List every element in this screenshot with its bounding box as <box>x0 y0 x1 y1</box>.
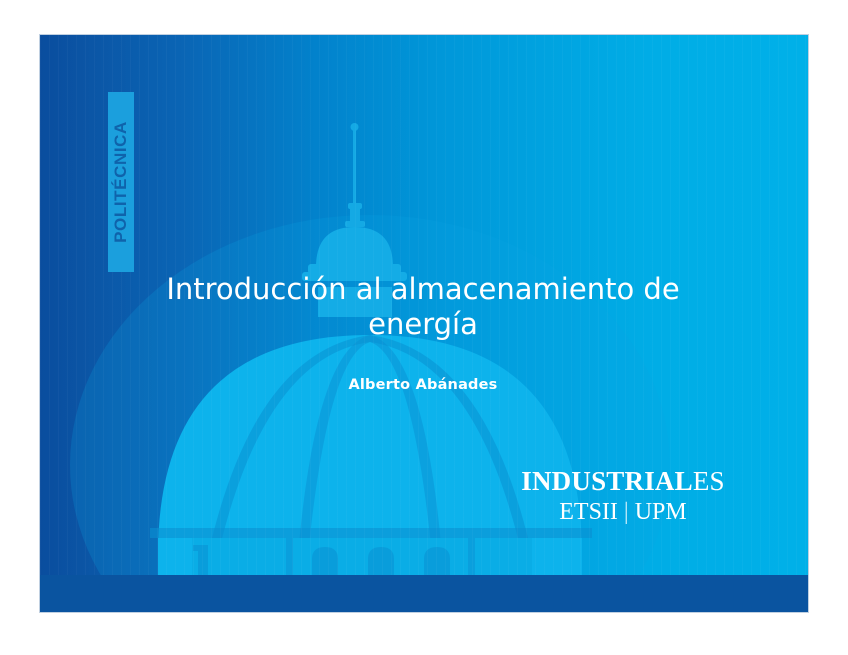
drum-inner-panel <box>192 538 532 575</box>
drum-arch-window-3 <box>424 547 450 575</box>
politecnica-band: POLITÉCNICA <box>108 92 134 272</box>
drum-pier-left <box>286 538 293 575</box>
presentation-slide: POLITÉCNICA Introducción al almacenamien… <box>40 35 808 612</box>
drum-pier-right <box>468 538 475 575</box>
logo-upm-text: UPM <box>635 499 687 525</box>
logo-secondary-line: ETSII|UPM <box>488 500 758 524</box>
logo-industrial-text: INDUSTRIAL <box>521 466 693 496</box>
bottom-accent-bar <box>40 575 808 612</box>
logo-primary-line: INDUSTRIALES <box>488 468 758 495</box>
spire-rod <box>353 130 356 205</box>
industriales-logo: INDUSTRIALES ETSII|UPM <box>488 468 758 524</box>
page-title: Introducción al almacenamiento de energí… <box>140 272 706 343</box>
dome-cornice <box>150 528 592 538</box>
spire-neck <box>350 209 360 223</box>
spire-collar-upper <box>348 203 362 209</box>
title-block: Introducción al almacenamiento de energí… <box>140 272 706 393</box>
spire-collar-lower <box>345 221 365 227</box>
politecnica-band-label: POLITÉCNICA <box>111 121 131 243</box>
logo-separator: | <box>618 500 635 524</box>
logo-etsii-text: ETSII <box>559 499 618 525</box>
logo-es-text: ES <box>693 466 725 496</box>
drum-arch-window-1 <box>312 547 338 575</box>
spire-finial-ball <box>351 123 359 131</box>
drum-arch-window-2 <box>368 547 394 575</box>
author-name: Alberto Abánades <box>140 377 706 393</box>
